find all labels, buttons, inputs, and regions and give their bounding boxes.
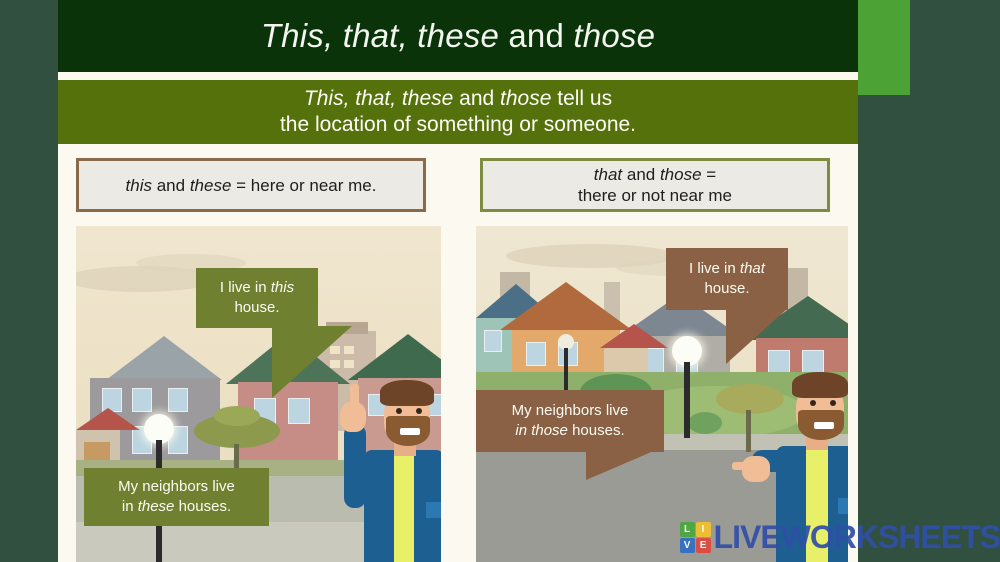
roof <box>600 324 668 348</box>
rule-line: this and these = here or near me. <box>126 175 377 196</box>
speech-bubble-those: My neighbors live in those houses. <box>476 390 664 452</box>
bubble-seg-2: this <box>271 279 294 296</box>
bubble-line-2: house. <box>234 298 279 318</box>
window <box>484 330 502 352</box>
t-shirt <box>394 450 414 562</box>
bubble-seg-1: in those <box>515 422 568 439</box>
column-right: that and those = there or not near me <box>458 150 858 562</box>
window <box>288 398 310 424</box>
sleeve-stripe <box>838 498 848 514</box>
roof <box>500 282 632 330</box>
liveworksheets-watermark: L I V E LIVEWORKSHEETS <box>680 519 1000 556</box>
title-bar: This, that, these and those <box>58 0 858 72</box>
character-man <box>326 372 441 562</box>
lamp-post <box>684 362 690 438</box>
rule-line-1: that and those = <box>594 164 716 185</box>
subtitle-line-2: the location of something or someone. <box>280 112 636 138</box>
logo-letter-e: E <box>696 538 711 553</box>
sleeve-stripe <box>426 502 441 518</box>
title-segment-2: and <box>499 17 573 54</box>
arm <box>344 424 366 508</box>
roof <box>106 336 222 380</box>
rule-seg-2: and <box>152 176 190 195</box>
bubble-tail <box>586 450 656 480</box>
window <box>526 342 546 366</box>
bubble-line-2: house. <box>704 279 749 299</box>
subtitle-seg-4: tell us <box>551 87 612 110</box>
rule-seg-2: and <box>622 165 660 184</box>
logo-letter-i: I <box>696 522 711 537</box>
rule-seg-3: these <box>190 176 232 195</box>
liveworksheets-logo-icon: L I V E <box>680 522 711 553</box>
bubble-seg-2: that <box>740 260 765 277</box>
subtitle-seg-1: This, that, these <box>304 87 453 110</box>
tree-icon <box>214 406 260 426</box>
bubble-line-2: in these houses. <box>122 497 231 517</box>
bubble-line-1: My neighbors live <box>118 477 235 497</box>
columns-container: this and these = here or near me. <box>58 150 858 562</box>
subtitle-seg-3: those <box>500 87 551 110</box>
bubble-seg-1: in <box>122 498 138 515</box>
eye <box>830 400 836 406</box>
eye <box>416 408 422 414</box>
accent-block <box>855 0 910 95</box>
mouth <box>814 422 834 429</box>
mouth <box>400 428 420 435</box>
bush-icon <box>688 412 722 434</box>
subtitle-line-1: This, that, these and those tell us <box>304 86 612 112</box>
roof <box>76 408 140 430</box>
eye <box>810 400 816 406</box>
bubble-line-1: My neighbors live <box>512 401 629 421</box>
rule-box-that-those: that and those = there or not near me <box>480 158 830 212</box>
bubble-tail <box>272 326 352 398</box>
hair <box>380 380 434 406</box>
pointing-finger <box>732 462 754 470</box>
bubble-seg-2: houses. <box>568 422 625 439</box>
bubble-seg-1: I live in <box>689 260 740 277</box>
rule-seg-1: that <box>594 165 622 184</box>
rule-seg-3: those <box>660 165 702 184</box>
bubble-seg-3: houses. <box>174 498 231 515</box>
watermark-text: LIVEWORKSHEETS <box>714 519 1000 556</box>
bubble-line-2: in those houses. <box>515 421 624 441</box>
hair <box>792 372 848 398</box>
rule-seg-4: = <box>702 165 717 184</box>
bubble-tail <box>726 308 788 364</box>
bubble-seg-2: these <box>138 498 175 515</box>
rule-seg-4: = here or near me. <box>231 176 376 195</box>
subtitle-seg-2: and <box>453 87 500 110</box>
illustration-far-scene: I live in that house. My neighbors live … <box>476 226 848 562</box>
worksheet: This, that, these and those This, that, … <box>58 0 858 562</box>
rule-line-2: there or not near me <box>578 185 732 206</box>
title-segment-1: This, that, these <box>261 17 499 54</box>
speech-bubble-that: I live in that house. <box>666 248 788 310</box>
speech-bubble-this: I live in this house. <box>196 268 318 328</box>
rule-seg-1: this <box>126 176 152 195</box>
eye <box>396 408 402 414</box>
illustration-near-scene: I live in this house. My neighbors live … <box>76 226 441 562</box>
bubble-seg-1: I live in <box>220 279 271 296</box>
speech-bubble-these: My neighbors live in these houses. <box>84 468 269 526</box>
bubble-line-1: I live in this <box>220 278 294 298</box>
title-segment-3: those <box>573 17 655 54</box>
column-left: this and these = here or near me. <box>58 150 458 562</box>
page-title: This, that, these and those <box>261 17 655 55</box>
logo-letter-l: L <box>680 522 695 537</box>
subtitle-band: This, that, these and those tell us the … <box>58 80 858 144</box>
bubble-line-1: I live in that <box>689 259 765 279</box>
window <box>168 388 188 412</box>
rule-box-this-these: this and these = here or near me. <box>76 158 426 212</box>
logo-letter-v: V <box>680 538 695 553</box>
page-canvas: This, that, these and those This, that, … <box>0 0 1000 562</box>
